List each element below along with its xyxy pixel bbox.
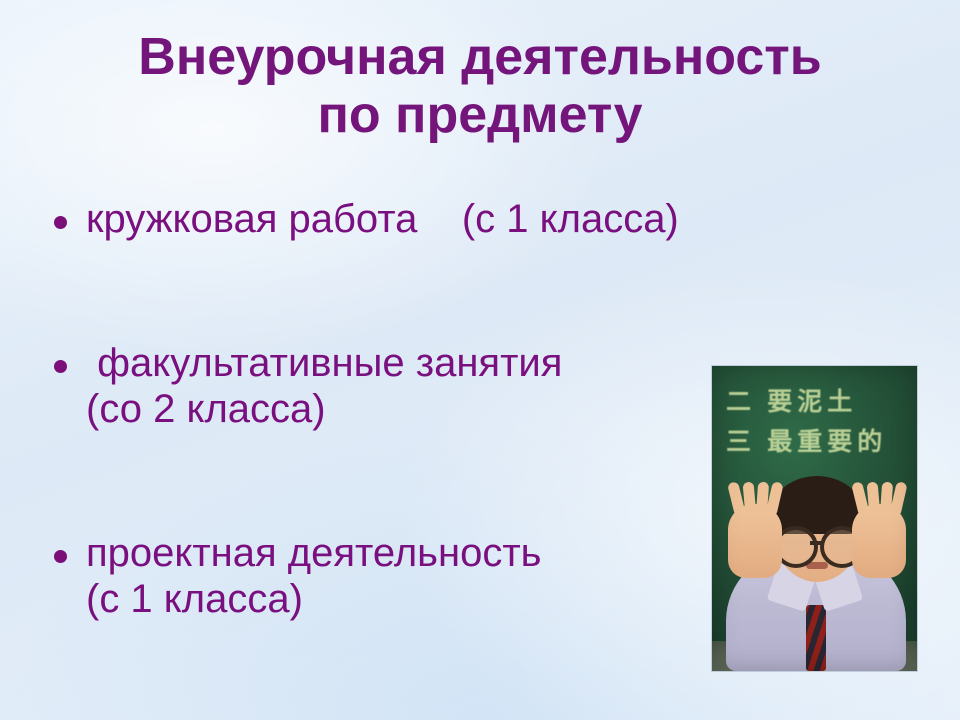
chalk-row-0 [752, 366, 762, 381]
boy-hand-right [852, 504, 906, 578]
boy-hand-left [728, 504, 782, 578]
slide: Внеурочная деятельность по предмету круж… [0, 0, 960, 720]
boy-tie [806, 605, 826, 671]
chalk-row-1: 二 要泥土 [726, 382, 857, 418]
list-item-label: кружковая работа (с 1 класса) [86, 197, 679, 241]
chalk-row-2: 三 最重要的 [726, 422, 887, 458]
list-item-label: факультативные занятия (со 2 класса) [86, 341, 562, 431]
bullet-dot-icon [54, 360, 67, 373]
glasses-bridge-icon [810, 541, 822, 545]
list-item: факультативные занятия (со 2 класса) [0, 340, 700, 432]
list-item: кружковая работа (с 1 класса) [0, 196, 700, 242]
list-item-label: проектная деятельность (с 1 класса) [86, 531, 542, 621]
list-item: проектная деятельность (с 1 класса) [0, 530, 700, 622]
bullet-dot-icon [54, 216, 67, 229]
bullet-dot-icon [54, 550, 67, 563]
photo-boy-with-glasses: 二 要泥土 三 最重要的 [712, 366, 917, 671]
title-line-2: по предмету [0, 86, 960, 144]
title-line-1: Внеурочная деятельность [0, 28, 960, 86]
bullet-list: кружковая работа (с 1 класса) факультати… [0, 196, 700, 622]
page-title: Внеурочная деятельность по предмету [0, 28, 960, 144]
